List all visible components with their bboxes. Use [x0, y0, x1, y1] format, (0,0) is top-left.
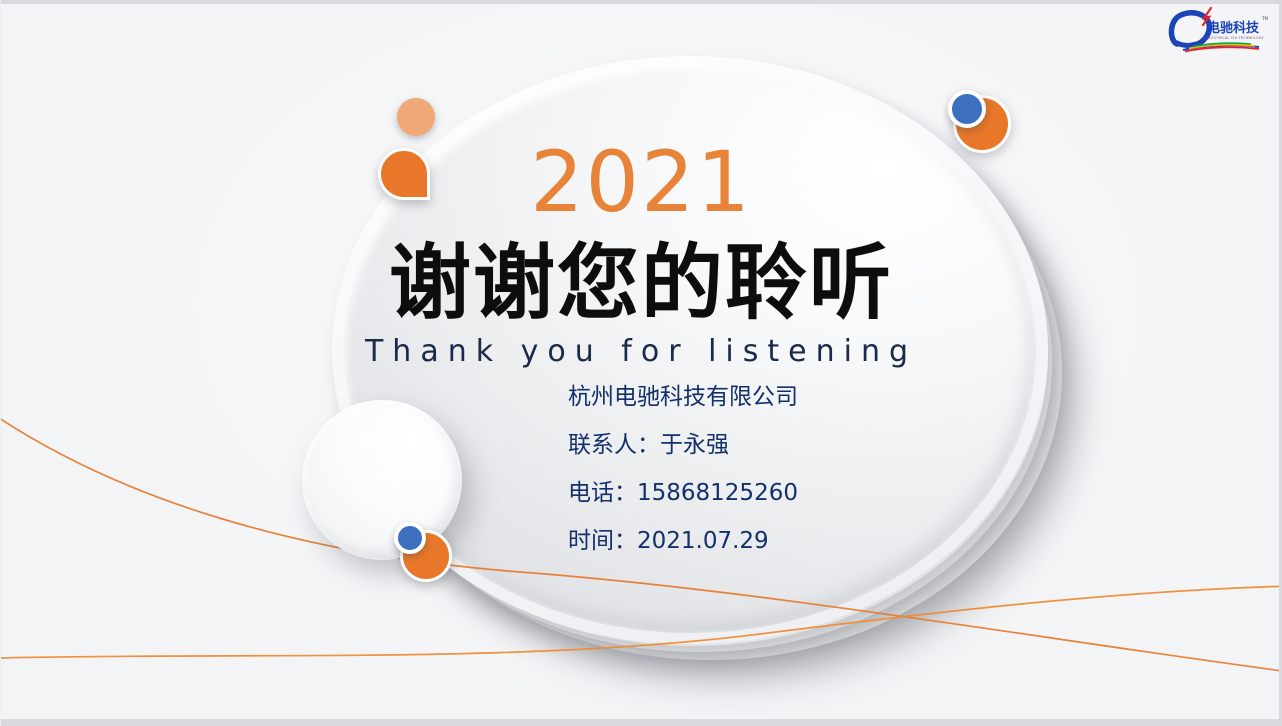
- decor-circle-blue-top-right: [948, 90, 986, 128]
- presentation-slide: 2021 谢谢您的聆听 Thank you for listening 杭州电驰…: [0, 0, 1282, 726]
- headline-subtitle: Thank you for listening: [0, 334, 1282, 369]
- decor-circle-peach-top-left: [397, 98, 435, 136]
- contact-person: 联系人：于永强: [568, 434, 1048, 457]
- slide-frame-bottom: [0, 719, 1282, 726]
- logo-trademark: TM: [1261, 16, 1268, 21]
- slide-year: 2021: [0, 140, 1282, 224]
- logo-company-cn: 电驰科技: [1207, 20, 1260, 36]
- contact-phone: 电话：15868125260: [568, 482, 1048, 505]
- contact-company: 杭州电驰科技有限公司: [568, 386, 1048, 409]
- slide-frame-top: [0, 0, 1282, 4]
- page-title: 谢谢您的聆听: [389, 242, 893, 326]
- decor-circle-blue-bottom-left: [394, 522, 426, 554]
- logo-company-en: ELECTRICAL CHI TECHNOLOGY: [1207, 36, 1264, 40]
- contact-date: 时间：2021.07.29: [568, 530, 1048, 553]
- contact-info-block: 杭州电驰科技有限公司 联系人：于永强 电话：15868125260 时间：202…: [568, 386, 1048, 578]
- company-logo: 电驰科技 ELECTRICAL CHI TECHNOLOGY TM: [1163, 4, 1273, 54]
- headline-container: 谢谢您的聆听: [0, 242, 1282, 326]
- slide-frame-left: [0, 0, 1, 726]
